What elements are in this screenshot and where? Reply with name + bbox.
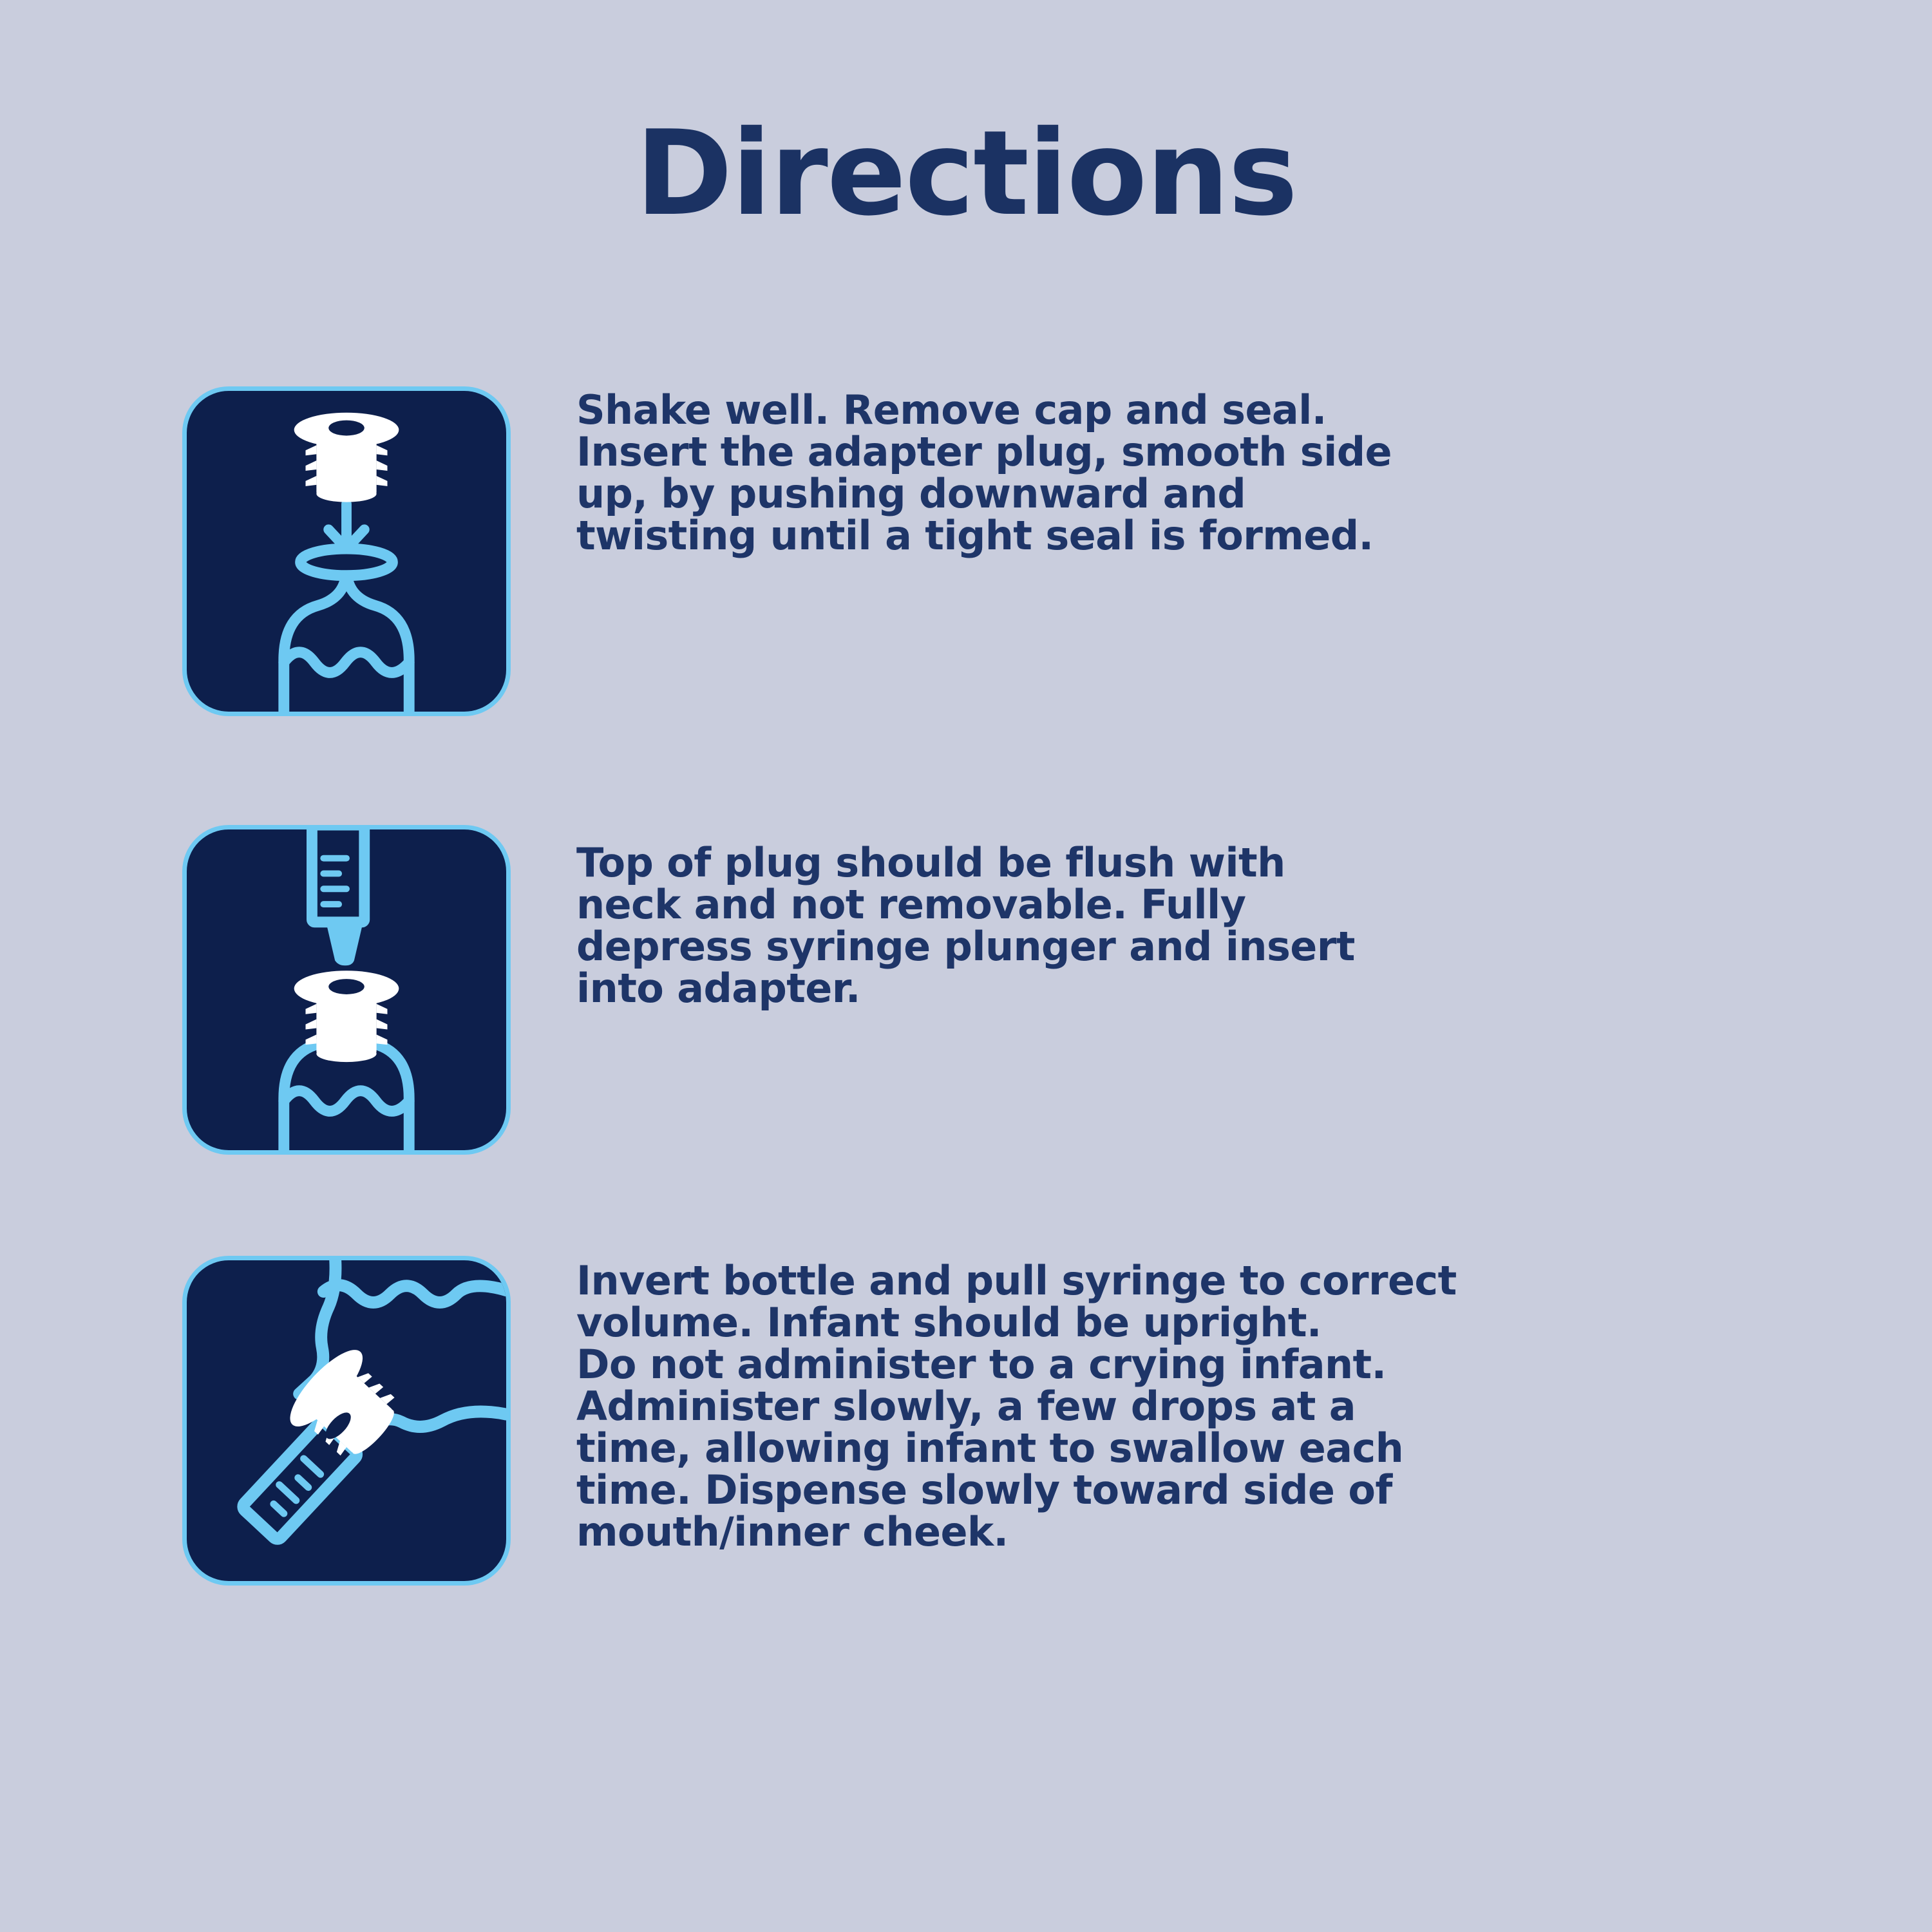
invert-bottle-draw-syringe-icon	[182, 1256, 511, 1586]
step-description: Invert bottle and pull syringe to correc…	[576, 1260, 1858, 1553]
step-description: Shake well. Remove cap and seal. Insert …	[576, 389, 1858, 556]
directions-panel: Directions	[0, 0, 1932, 1932]
page-title: Directions	[0, 115, 1932, 232]
insert-adapter-plug-icon	[182, 386, 511, 716]
syringe-into-adapter-icon	[182, 825, 511, 1155]
step-description: Top of plug should be flush with neck an…	[576, 842, 1858, 1009]
